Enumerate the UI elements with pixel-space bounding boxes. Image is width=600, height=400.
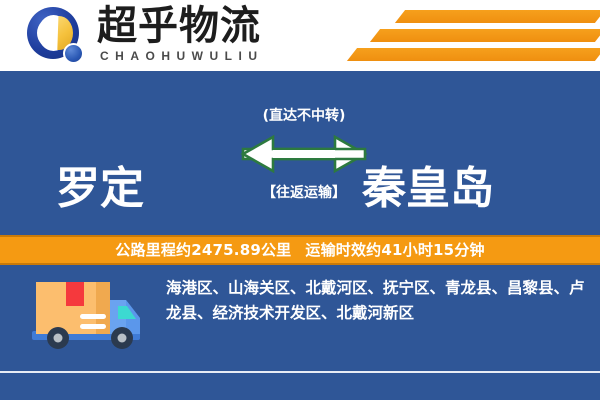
distance-duration-bar: 公路里程约2475.89公里 运输时效约41小时15分钟 [0,235,600,265]
route-note-bottom: 【往返运输】 [262,184,346,202]
destination-city: 秦皇岛 [362,165,494,213]
speed-stripes-icon [340,8,600,66]
banner-header: 超乎物流 CHAOHUWULIU [0,0,600,71]
distance-text: 公路里程约2475.89公里 [115,241,291,259]
logo-accent-dot [63,43,84,64]
route-note-top: (直达不中转) [263,107,346,125]
moon-circle-logo-icon [27,7,87,65]
stripe-2 [370,29,600,42]
route-section: 罗定 (直达不中转) 【往返运输】 秦皇岛 [0,71,600,236]
origin-city: 罗定 [56,165,144,213]
coverage-areas-text: 海港区、山海关区、北戴河区、抚宁区、青龙县、昌黎县、卢龙县、经济技术开发区、北戴… [166,276,586,326]
brand-name-cn: 超乎物流 [97,4,261,48]
route-arrow-block: (直达不中转) 【往返运输】 [237,107,371,219]
duration-text: 运输时效约41小时15分钟 [305,241,484,259]
coverage-section: 海港区、山海关区、北戴河区、抚宁区、青龙县、昌黎县、卢龙县、经济技术开发区、北戴… [0,265,600,372]
logistics-route-banner: 超乎物流 CHAOHUWULIU 罗定 (直达不中转) 【往返运输】 秦皇岛 [0,0,600,400]
delivery-truck-icon [30,274,148,354]
brand-name-en: CHAOHUWULIU [100,49,264,63]
footer-band [0,373,600,400]
double-arrow-icon [239,133,369,175]
stripe-1 [395,10,600,23]
stripe-3 [347,48,600,61]
